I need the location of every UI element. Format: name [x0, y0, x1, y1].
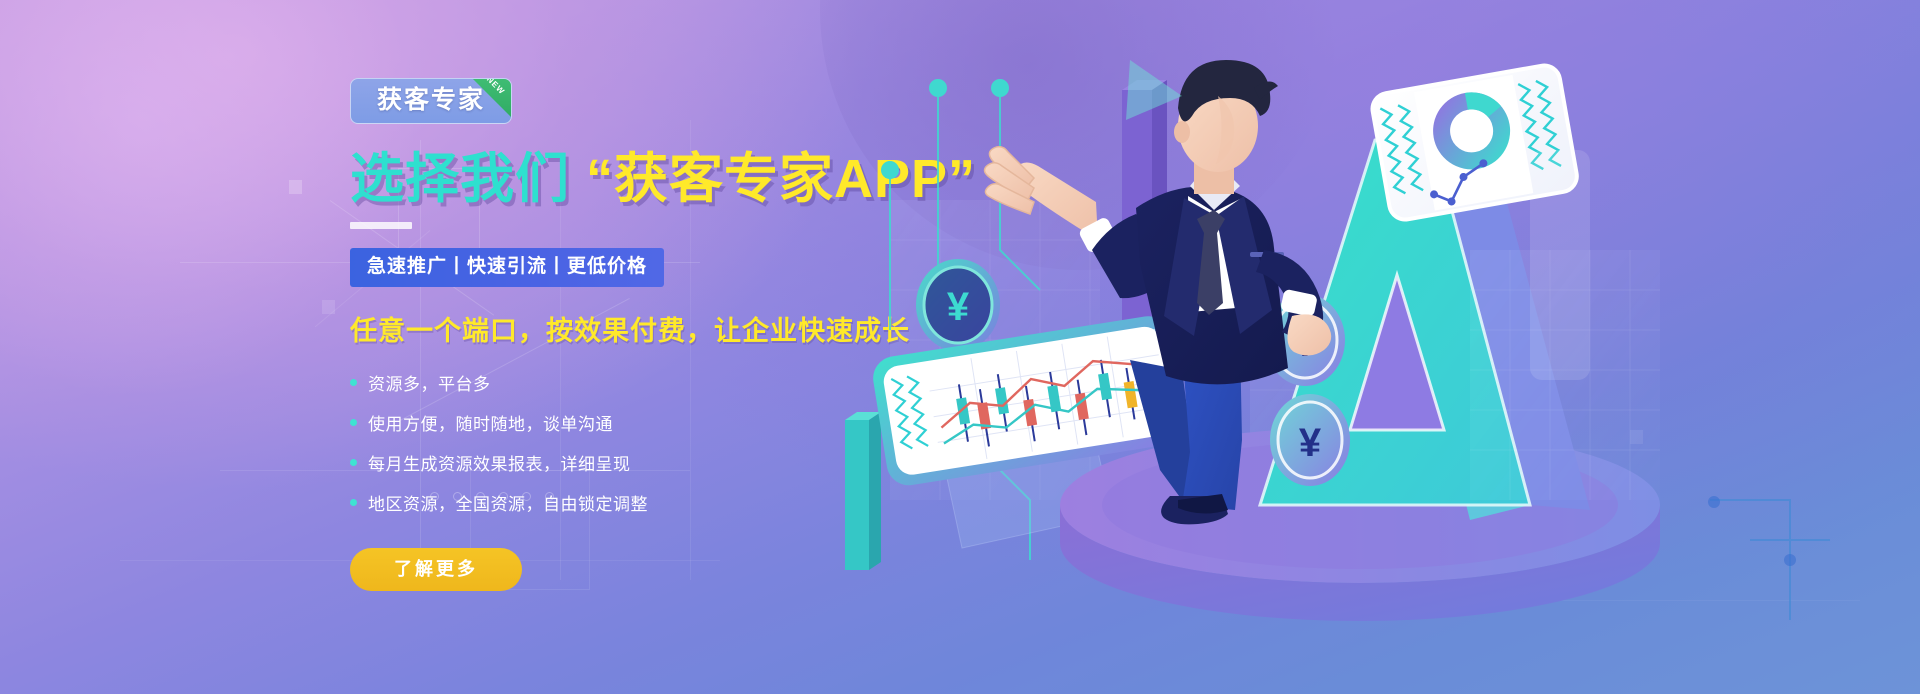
- product-badge-label: 获客专家: [377, 88, 485, 113]
- bullet-dot-icon: [350, 419, 357, 426]
- decor-circuit-lines-right: [1710, 500, 1830, 620]
- banner-content: 获客专家 NEW 选择我们 “获客专家APP” 急速推广丨快速引流丨更低价格 任…: [350, 78, 910, 591]
- list-item-label: 资源多，平台多: [368, 370, 491, 395]
- feature-list: 资源多，平台多 使用方便，随时随地，谈单沟通 每月生成资源效果报表，详细呈现 地…: [350, 370, 910, 515]
- svg-text:¥: ¥: [947, 285, 970, 329]
- bullet-dot-icon: [350, 459, 357, 466]
- coin-yen-right-bottom: ¥: [1270, 394, 1350, 486]
- coin-yen-left: ¥: [916, 259, 1000, 351]
- promo-banner: 获客专家 NEW 选择我们 “获客专家APP” 急速推广丨快速引流丨更低价格 任…: [0, 0, 1920, 694]
- product-badge: 获客专家 NEW: [350, 78, 512, 124]
- headline-primary: 选择我们: [350, 149, 570, 209]
- hero-illustration: ¥ ¥ ¥: [830, 0, 1920, 694]
- page-title: 选择我们 “获客专家APP”: [350, 151, 910, 208]
- tagline: 任意一个端口，按效果付费，让企业快速成长: [350, 309, 910, 348]
- feature-bar: 急速推广丨快速引流丨更低价格: [350, 248, 664, 287]
- list-item: 地区资源，全国资源，自由锁定调整: [350, 490, 910, 515]
- list-item: 资源多，平台多: [350, 370, 910, 395]
- bullet-dot-icon: [350, 379, 357, 386]
- svg-text:¥: ¥: [1299, 421, 1322, 465]
- learn-more-button[interactable]: 了解更多: [350, 548, 522, 591]
- list-item: 使用方便，随时随地，谈单沟通: [350, 410, 910, 435]
- list-item-label: 地区资源，全国资源，自由锁定调整: [368, 490, 648, 515]
- bullet-dot-icon: [350, 499, 357, 506]
- decor-3d-bar-teal: [845, 412, 881, 570]
- feature-bar-label: 急速推广丨快速引流丨更低价格: [367, 256, 647, 277]
- learn-more-label: 了解更多: [394, 559, 478, 579]
- list-item: 每月生成资源效果报表，详细呈现: [350, 450, 910, 475]
- list-item-label: 使用方便，随时随地，谈单沟通: [368, 410, 613, 435]
- decor-grid-right: [1470, 250, 1660, 500]
- title-divider: [350, 222, 412, 229]
- new-ribbon-label: NEW: [485, 78, 507, 96]
- list-item-label: 每月生成资源效果报表，详细呈现: [368, 450, 631, 475]
